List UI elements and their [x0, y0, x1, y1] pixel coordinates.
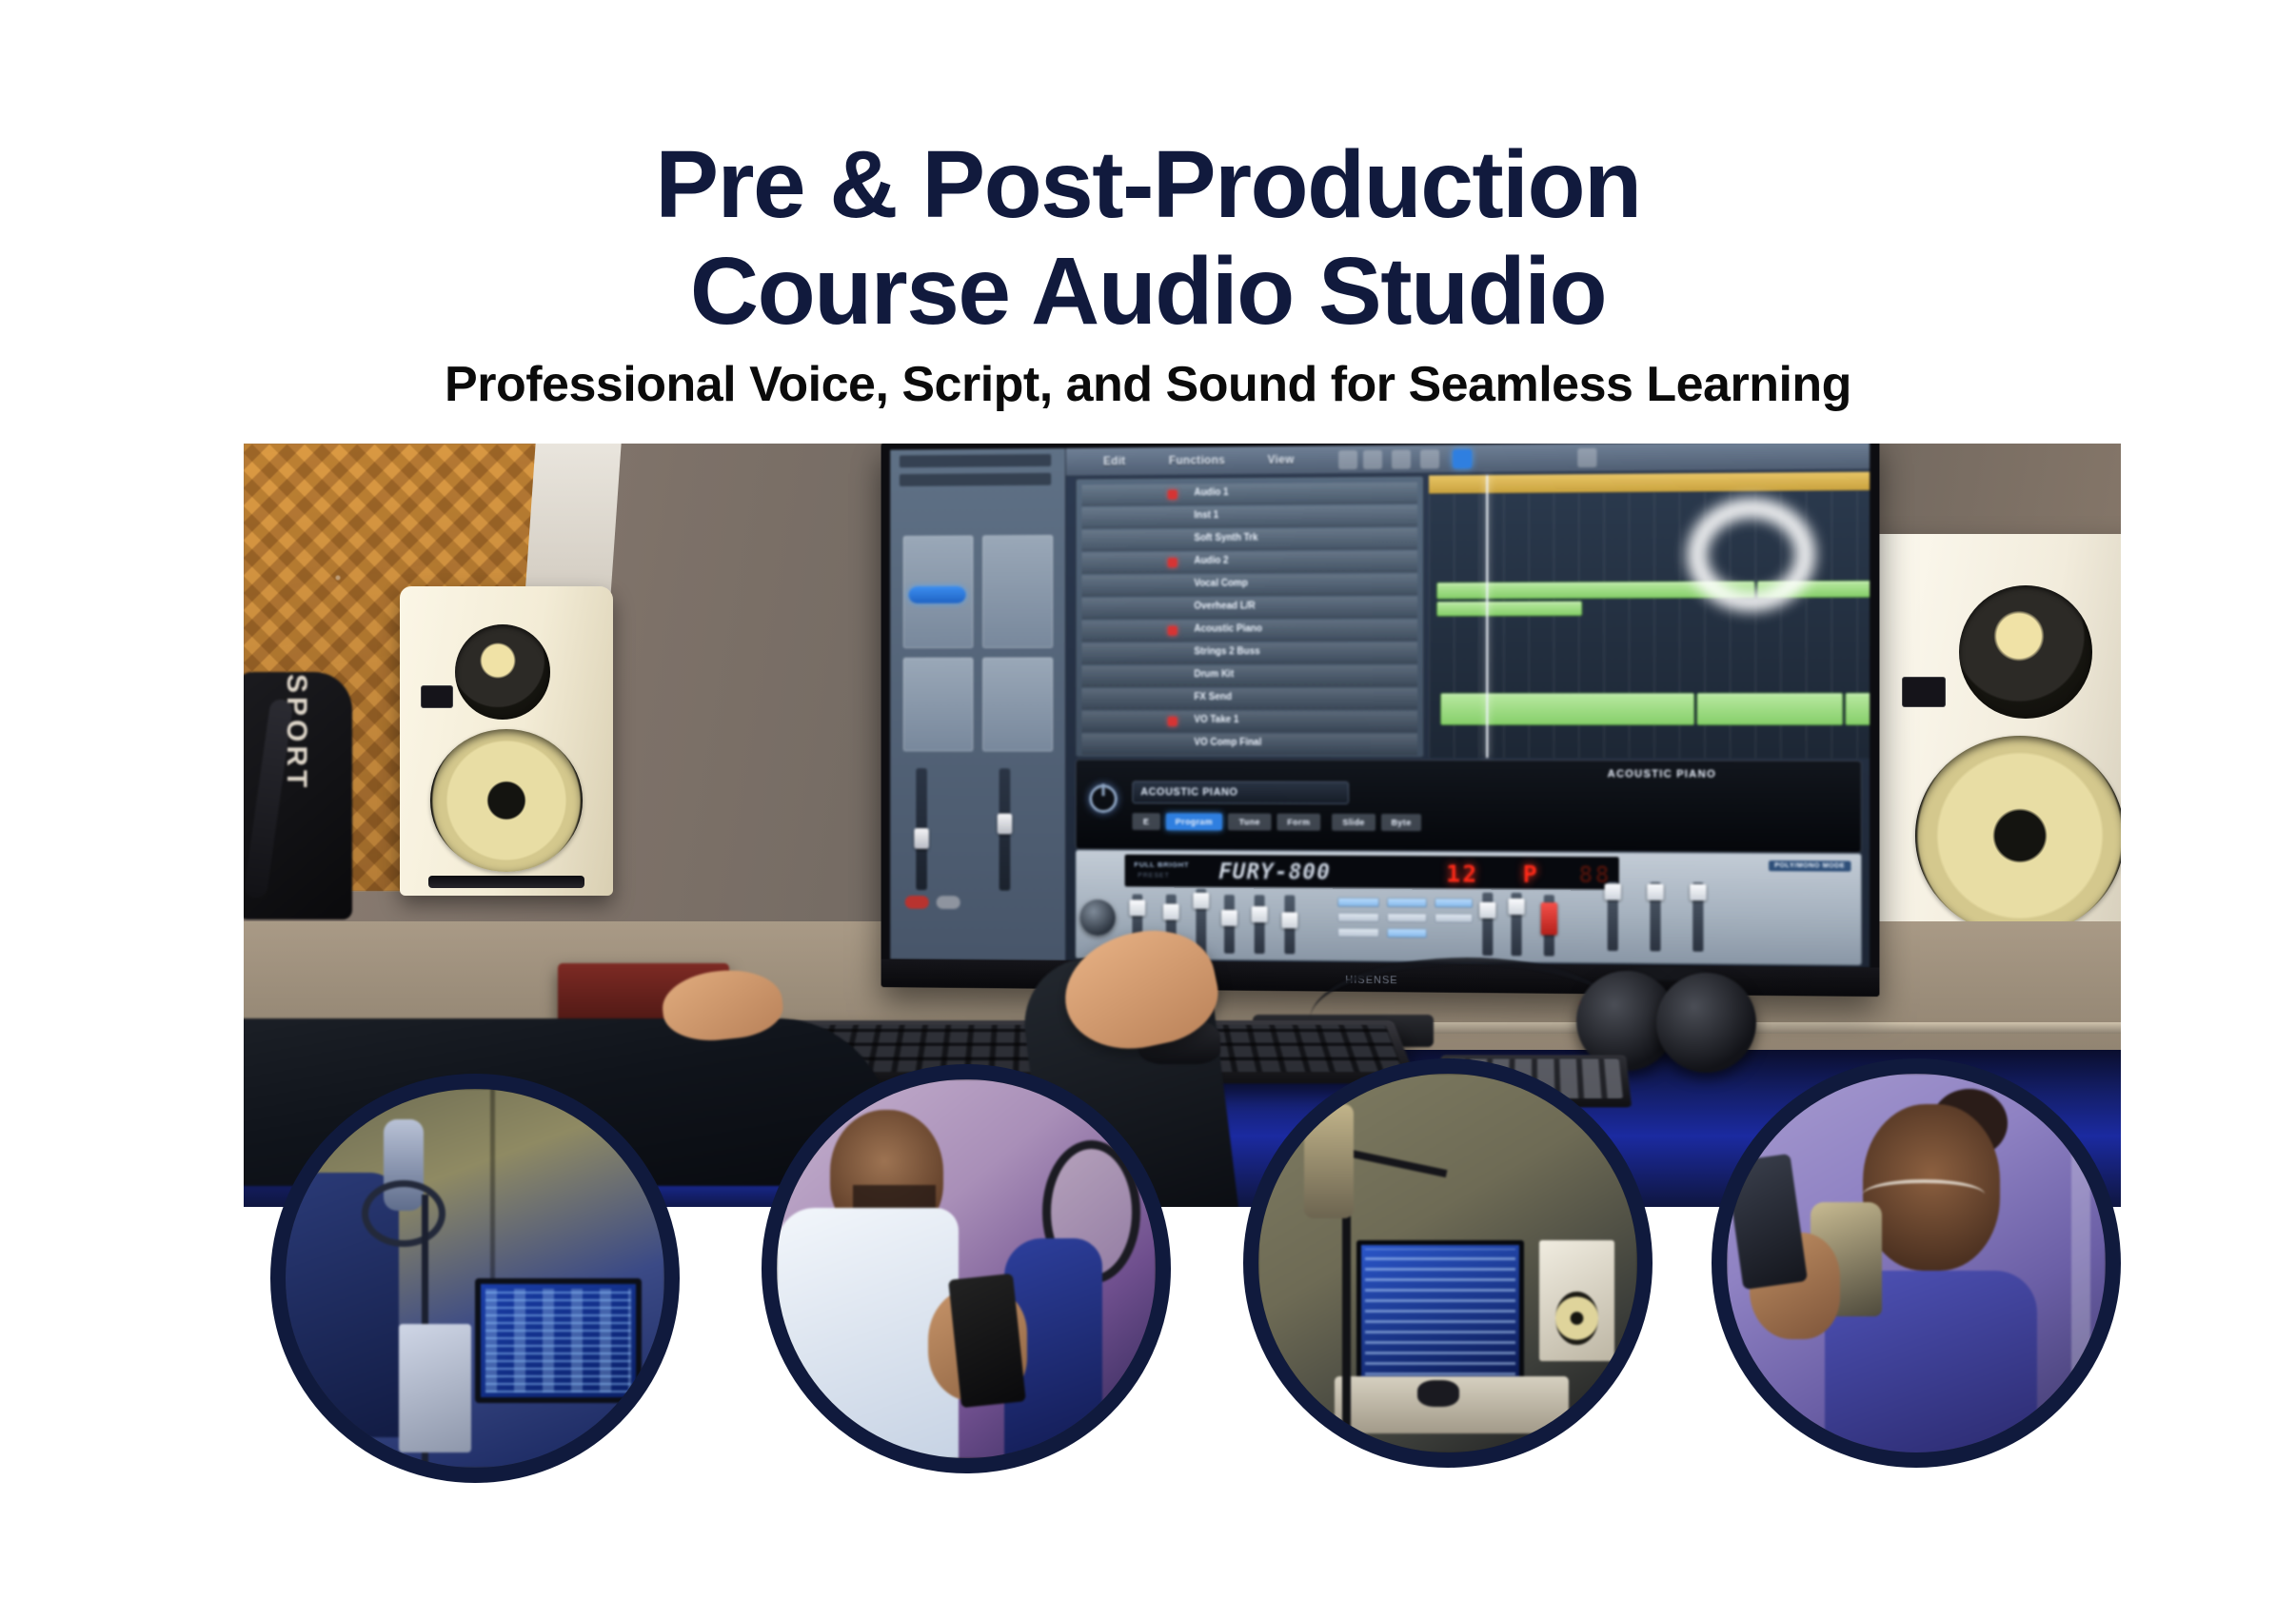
synth-button-4[interactable] — [1387, 898, 1427, 907]
track-name: FX Send — [1194, 692, 1232, 702]
curve-icon[interactable] — [1392, 450, 1411, 469]
synth-button-5[interactable] — [1387, 913, 1427, 922]
list-icon[interactable] — [1338, 450, 1357, 469]
thumb-image — [1727, 1074, 2106, 1452]
thumb-image — [1258, 1074, 1637, 1452]
inspector-output-box[interactable] — [982, 658, 1053, 752]
poster-canvas: Pre & Post-Production Course Audio Studi… — [0, 0, 2296, 1620]
audio-region[interactable] — [1436, 601, 1582, 617]
synth-volume-knob[interactable] — [1080, 899, 1116, 936]
track-name: Strings 2 Buss — [1194, 646, 1259, 657]
headphone-cup-right — [1656, 973, 1756, 1073]
bass-port — [428, 876, 584, 888]
plugin-window-acoustic-piano[interactable]: ACOUSTIC PIANO E Program Tune Form Slide… — [1076, 760, 1862, 854]
studio-speaker — [1539, 1240, 1615, 1361]
page-title-line-2: Course Audio Studio — [0, 238, 2296, 345]
inspector-group-box[interactable] — [903, 658, 974, 752]
inspector-header-row — [900, 454, 1051, 467]
synth-button-2[interactable] — [1337, 913, 1379, 922]
grid-icon[interactable] — [1363, 450, 1382, 469]
synth-mode-slider-1[interactable] — [1608, 881, 1618, 951]
track-name: Acoustic Piano — [1194, 623, 1261, 634]
daw-track-list[interactable]: Audio 1 Inst 1 Soft Synth Trk Audio 2 Vo… — [1076, 476, 1424, 759]
daw-monitor — [1356, 1240, 1523, 1384]
synth-preset-label: PRESET — [1138, 873, 1169, 879]
tweeter-icon — [455, 624, 550, 720]
plugin-tab-program[interactable]: Program — [1166, 813, 1222, 830]
synth-slider-9[interactable] — [1544, 895, 1554, 956]
condenser-mic-icon — [1304, 1104, 1354, 1218]
track-name: VO Take 1 — [1194, 715, 1238, 725]
plugin-tab-byte[interactable]: Byte — [1381, 814, 1421, 831]
synth-slider-8[interactable] — [1511, 893, 1521, 956]
synth-slider-7[interactable] — [1482, 893, 1493, 956]
menu-edit[interactable]: Edit — [1103, 454, 1125, 467]
plugin-tab-e[interactable]: E — [1132, 813, 1159, 830]
heading-block: Pre & Post-Production Course Audio Studi… — [0, 131, 2296, 412]
metronome-icon[interactable] — [1577, 448, 1596, 467]
thumb-voice-artist-purple[interactable] — [1712, 1058, 2121, 1468]
menu-view[interactable]: View — [1268, 453, 1295, 466]
mute-button[interactable] — [937, 896, 960, 909]
synth-mode-slider-2[interactable] — [1650, 882, 1660, 952]
record-arm-icon[interactable] — [1168, 717, 1178, 726]
preset-value: ACOUSTIC PIANO — [1140, 786, 1237, 798]
inspector-track-row — [900, 473, 1051, 486]
thumb-image — [286, 1089, 664, 1468]
sports-bag-label: SPORT — [280, 674, 312, 817]
track-name: Soft Synth Trk — [1194, 533, 1257, 543]
audio-region[interactable] — [1845, 693, 1870, 726]
thumb-engineer-with-phone[interactable] — [762, 1064, 1171, 1473]
record-arm-icon[interactable] — [1168, 490, 1178, 500]
plugin-title: ACOUSTIC PIANO — [1608, 768, 1716, 780]
automation-icon[interactable] — [1453, 449, 1472, 468]
synth-brand: FULL BRIGHT — [1134, 860, 1189, 869]
computer-mouse — [1417, 1380, 1459, 1407]
daw-inspector-panel — [890, 448, 1066, 960]
synth-model: FURY-800 — [1218, 859, 1331, 885]
synth-button-6[interactable] — [1387, 928, 1427, 938]
daw-screen: Edit Functions View Audio 1 Inst 1 Soft … — [890, 444, 1870, 967]
smartphone-icon — [1726, 1153, 1808, 1289]
daw-arrange-area[interactable] — [1429, 472, 1870, 759]
synth-slider-6[interactable] — [1284, 895, 1295, 954]
track-name: Vocal Comp — [1194, 579, 1247, 589]
computer-monitor: Edit Functions View Audio 1 Inst 1 Soft … — [881, 444, 1880, 997]
woofer-icon — [430, 729, 583, 872]
synth-button-3[interactable] — [1337, 928, 1379, 938]
led-variation: P — [1523, 860, 1539, 888]
fader-cap[interactable] — [914, 828, 928, 849]
woofer-icon — [1915, 736, 2121, 936]
menu-functions[interactable]: Functions — [1169, 453, 1225, 466]
audio-region[interactable] — [1696, 693, 1843, 726]
daw-monitor — [475, 1278, 642, 1403]
channel-fader-left[interactable] — [916, 768, 927, 890]
record-enable-button[interactable] — [905, 896, 929, 909]
tweeter-icon — [1959, 585, 2092, 719]
track-name: Audio 1 — [1194, 487, 1228, 498]
inspector-flex-button[interactable] — [909, 586, 966, 603]
page-title-line-1: Pre & Post-Production — [0, 131, 2296, 238]
thumb-mic-desk-monitor[interactable] — [1243, 1058, 1653, 1468]
studio-monitor-right — [1868, 534, 2121, 981]
track-name: Inst 1 — [1194, 510, 1218, 521]
synth-mode-label: POLY/MONO MODE — [1769, 860, 1851, 872]
audio-region[interactable] — [1440, 693, 1694, 725]
scissors-icon[interactable] — [1420, 449, 1439, 468]
fader-cap[interactable] — [998, 814, 1013, 835]
track-name: Overhead L/R — [1194, 601, 1255, 611]
plugin-tab-tune[interactable]: Tune — [1228, 813, 1272, 830]
synth-mode-slider-3[interactable] — [1692, 882, 1703, 952]
led-program-number: 12 — [1446, 859, 1478, 887]
synth-slider-4[interactable] — [1224, 895, 1235, 954]
shock-mount-icon — [362, 1180, 445, 1247]
krk-logo-icon — [1902, 677, 1946, 707]
preset-select[interactable]: ACOUSTIC PIANO — [1132, 780, 1349, 804]
record-arm-icon[interactable] — [1168, 558, 1178, 567]
ring-light-reflection — [1687, 498, 1815, 612]
smartphone-icon — [948, 1274, 1025, 1409]
thumbnail-row — [0, 1074, 2296, 1521]
synth-button-8[interactable] — [1435, 913, 1473, 922]
page-subtitle: Professional Voice, Script, and Sound fo… — [0, 358, 2296, 412]
glasses-icon — [1863, 1179, 1984, 1210]
synth-button-1[interactable] — [1337, 898, 1379, 907]
synth-slider-5[interactable] — [1255, 895, 1265, 954]
record-arm-icon[interactable] — [1168, 626, 1178, 636]
thumb-vocal-booth-blue[interactable] — [270, 1074, 680, 1483]
inspector-qswing-box[interactable] — [982, 535, 1053, 648]
synth-lcd: FULL BRIGHT PRESET FURY-800 12 P 88 — [1125, 855, 1619, 890]
thumb-image — [777, 1079, 1156, 1458]
track-name: Audio 2 — [1194, 556, 1228, 566]
studio-speaker — [399, 1324, 471, 1452]
channel-fader-right[interactable] — [1000, 768, 1011, 890]
plugin-tab-slide[interactable]: Slide — [1332, 814, 1376, 831]
krk-logo-icon — [421, 685, 453, 708]
plugin-tab-form[interactable]: Form — [1277, 814, 1320, 831]
daw-toolbar[interactable]: Edit Functions View — [1066, 444, 1870, 477]
playhead[interactable] — [1486, 475, 1488, 758]
studio-monitor-left — [400, 586, 613, 896]
synth-button-7[interactable] — [1435, 898, 1473, 907]
track-name: VO Comp Final — [1194, 738, 1261, 748]
power-icon[interactable] — [1089, 784, 1117, 813]
timeline-ruler[interactable] — [1429, 472, 1870, 495]
mic-stand — [1342, 1187, 1351, 1452]
wall-edge — [2071, 1074, 2090, 1376]
track-name: Drum Kit — [1194, 669, 1234, 680]
